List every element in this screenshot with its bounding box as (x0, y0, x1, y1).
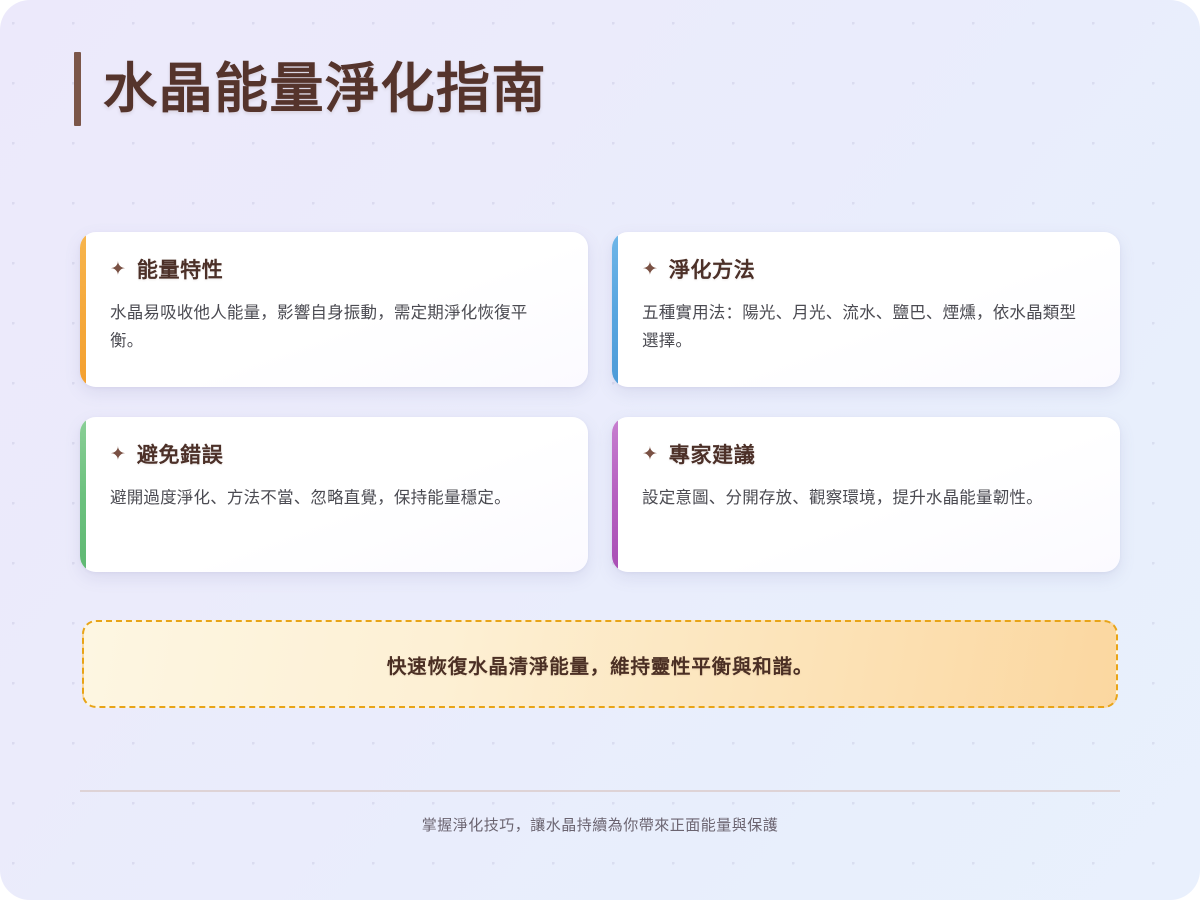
footer-divider (80, 790, 1120, 792)
highlight-banner: 快速恢復水晶清淨能量，維持靈性平衡與和諧。 (82, 620, 1118, 708)
card-accent-bar (612, 232, 618, 387)
card-energy-traits[interactable]: ✦ 能量特性 水晶易吸收他人能量，影響自身振動，需定期淨化恢復平衡。 (80, 232, 588, 387)
card-header: ✦ 避免錯誤 (110, 445, 558, 466)
card-header: ✦ 專家建議 (642, 445, 1090, 466)
card-body-text: 設定意圖、分開存放、觀察環境，提升水晶能量韌性。 (642, 484, 1090, 512)
card-body-text: 水晶易吸收他人能量，影響自身振動，需定期淨化恢復平衡。 (110, 299, 558, 356)
card-title: 專家建議 (669, 445, 755, 466)
card-title: 能量特性 (137, 260, 223, 281)
sparkle-icon: ✦ (642, 260, 658, 279)
card-body-text: 避開過度淨化、方法不當、忽略直覺，保持能量穩定。 (110, 484, 558, 512)
title-accent-bar (74, 52, 81, 126)
sparkle-icon: ✦ (642, 445, 658, 464)
footer-text: 掌握淨化技巧，讓水晶持續為你帶來正面能量與保護 (0, 814, 1200, 835)
sparkle-icon: ✦ (110, 260, 126, 279)
page-title: 水晶能量淨化指南 (103, 62, 547, 116)
card-title: 淨化方法 (669, 260, 755, 281)
card-grid: ✦ 能量特性 水晶易吸收他人能量，影響自身振動，需定期淨化恢復平衡。 ✦ 淨化方… (80, 232, 1120, 572)
card-accent-bar (612, 417, 618, 572)
card-title: 避免錯誤 (137, 445, 223, 466)
card-cleansing-methods[interactable]: ✦ 淨化方法 五種實用法：陽光、月光、流水、鹽巴、煙燻，依水晶類型選擇。 (612, 232, 1120, 387)
sparkle-icon: ✦ (110, 445, 126, 464)
card-accent-bar (80, 417, 86, 572)
infographic-page: 水晶能量淨化指南 ✦ 能量特性 水晶易吸收他人能量，影響自身振動，需定期淨化恢復… (0, 0, 1200, 900)
card-avoid-mistakes[interactable]: ✦ 避免錯誤 避開過度淨化、方法不當、忽略直覺，保持能量穩定。 (80, 417, 588, 572)
card-header: ✦ 淨化方法 (642, 260, 1090, 281)
banner-text: 快速恢復水晶清淨能量，維持靈性平衡與和諧。 (387, 650, 813, 679)
card-body-text: 五種實用法：陽光、月光、流水、鹽巴、煙燻，依水晶類型選擇。 (642, 299, 1090, 356)
page-header: 水晶能量淨化指南 (74, 52, 547, 126)
card-expert-advice[interactable]: ✦ 專家建議 設定意圖、分開存放、觀察環境，提升水晶能量韌性。 (612, 417, 1120, 572)
card-accent-bar (80, 232, 86, 387)
card-header: ✦ 能量特性 (110, 260, 558, 281)
